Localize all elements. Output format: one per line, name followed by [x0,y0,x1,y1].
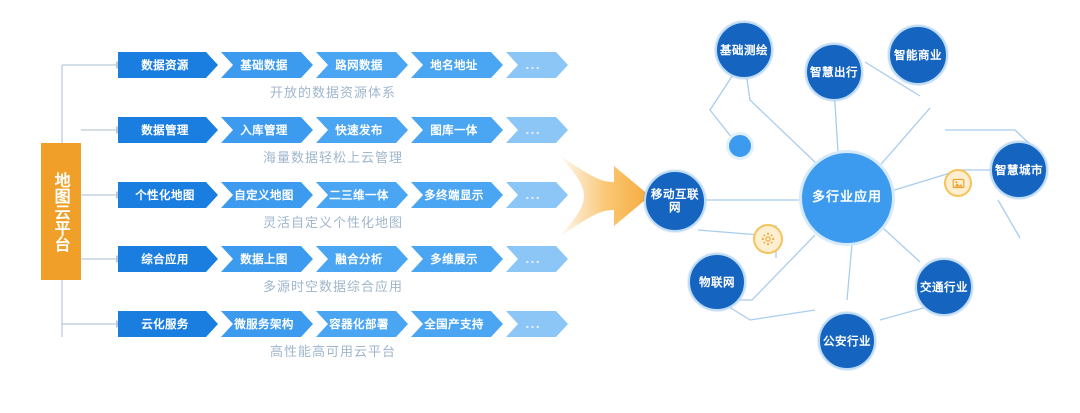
chevron-step[interactable]: 多终端显示 [411,182,503,208]
chevron-label: 路网数据 [335,57,383,73]
platform-label: 地图云平台 [52,172,69,252]
chevron-more[interactable]: ... [506,52,568,78]
node-iot[interactable]: 物联网 [688,253,746,311]
chevron-label: 个性化地图 [135,187,195,203]
chevron-label: 基础数据 [240,57,288,73]
node-label: 交通行业 [920,281,968,294]
node-label: 多行业应用 [812,191,882,206]
flow-row-3: 个性化地图 自定义地图 二三维一体 [118,182,548,238]
chevron-ellipsis: ... [525,189,541,202]
chevron-label: 全国产支持 [424,316,484,332]
node-label: 公安行业 [823,335,871,348]
chevron-step[interactable]: 路网数据 [316,52,408,78]
chevron-ellipsis: ... [525,59,541,72]
node-multi-industry-application[interactable]: 多行业应用 [799,150,895,246]
node-label: 移动互联网 [646,188,704,214]
chevron-step[interactable]: 基础数据 [221,52,313,78]
node-smart-travel[interactable]: 智慧出行 [805,43,863,101]
chevron-track: 个性化地图 自定义地图 二三维一体 [118,182,548,208]
chevron-step[interactable]: 融合分析 [316,246,408,272]
chevron-head[interactable]: 云化服务 [118,311,218,337]
chevron-label: 入库管理 [240,122,288,138]
diagram-canvas: 地图云平台 数据资源 基础数据 [0,0,1080,413]
chevron-label: 容器化部署 [329,316,389,332]
chevron-step[interactable]: 数据上图 [221,246,313,272]
chevron-label: 数据上图 [240,251,288,267]
node-label: 智能商业 [894,49,942,62]
chevron-more[interactable]: ... [506,182,568,208]
flow-row-1: 数据资源 基础数据 路网数据 [118,52,548,108]
chevron-more[interactable]: ... [506,117,568,143]
chevron-label: 数据资源 [141,57,189,73]
node-public-security[interactable]: 公安行业 [818,312,876,370]
chevron-label: 多终端显示 [424,187,484,203]
chevron-label: 快速发布 [335,122,383,138]
chevron-label: 二三维一体 [329,187,389,203]
node-transport-industry[interactable]: 交通行业 [915,258,973,316]
node-mobile-internet[interactable]: 移动互联网 [644,170,706,232]
chevron-step[interactable]: 微服务架构 [221,311,313,337]
flow-row-2: 数据管理 入库管理 快速发布 [118,117,548,173]
row-caption: 多源时空数据综合应用 [118,276,548,295]
chevron-track: 综合应用 数据上图 融合分析 [118,246,548,272]
chevron-label: 融合分析 [335,251,383,267]
chevron-ellipsis: ... [525,318,541,331]
chevron-step[interactable]: 多维展示 [411,246,503,272]
platform-block[interactable]: 地图云平台 [41,143,81,280]
chevron-more[interactable]: ... [506,246,568,272]
chevron-head[interactable]: 数据资源 [118,52,218,78]
network-diagram-panel: 多行业应用 基础测绘 智慧出行 智能商业 智慧城市 交通行业 公安行业 物联网 [600,0,1080,413]
node-label: 基础测绘 [720,44,768,57]
chevron-step[interactable]: 图库一体 [411,117,503,143]
chevron-label: 微服务架构 [234,316,294,332]
row-caption: 灵活自定义个性化地图 [118,212,548,231]
left-flow-panel: 地图云平台 数据资源 基础数据 [0,0,560,413]
chevron-more[interactable]: ... [506,311,568,337]
chevron-step[interactable]: 自定义地图 [221,182,313,208]
chevron-head[interactable]: 个性化地图 [118,182,218,208]
node-smart-business[interactable]: 智能商业 [888,25,948,85]
chevron-step[interactable]: 入库管理 [221,117,313,143]
chevron-step[interactable]: 地名地址 [411,52,503,78]
row-caption: 开放的数据资源体系 [118,82,548,101]
chevron-label: 多维展示 [430,251,478,267]
node-label: 智慧城市 [995,164,1043,177]
chevron-step[interactable]: 容器化部署 [316,311,408,337]
chevron-track: 数据管理 入库管理 快速发布 [118,117,548,143]
chevron-label: 地名地址 [430,57,478,73]
node-basic-surveying[interactable]: 基础测绘 [715,21,773,79]
flow-row-4: 综合应用 数据上图 融合分析 [118,246,548,302]
chevron-step[interactable]: 快速发布 [316,117,408,143]
chevron-step[interactable]: 二三维一体 [316,182,408,208]
chevron-head[interactable]: 数据管理 [118,117,218,143]
chevron-step[interactable]: 全国产支持 [411,311,503,337]
flow-row-5: 云化服务 微服务架构 容器化部署 [118,311,548,367]
chevron-ellipsis: ... [525,253,541,266]
chevron-track: 数据资源 基础数据 路网数据 [118,52,548,78]
chevron-head[interactable]: 综合应用 [118,246,218,272]
node-label: 智慧出行 [810,66,858,79]
node-plain-dot[interactable] [726,132,754,160]
chevron-label: 图库一体 [430,122,478,138]
chevron-label: 云化服务 [141,316,189,332]
chevron-label: 数据管理 [141,122,189,138]
gear-icon[interactable] [753,224,783,254]
node-label: 物联网 [699,276,735,289]
chevron-track: 云化服务 微服务架构 容器化部署 [118,311,548,337]
chevron-label: 自定义地图 [234,187,294,203]
node-smart-city[interactable]: 智慧城市 [990,141,1048,199]
row-caption: 海量数据轻松上云管理 [118,147,548,166]
image-icon[interactable] [944,169,972,197]
chevron-label: 综合应用 [141,251,189,267]
chevron-ellipsis: ... [525,124,541,137]
row-caption: 高性能高可用云平台 [118,341,548,360]
